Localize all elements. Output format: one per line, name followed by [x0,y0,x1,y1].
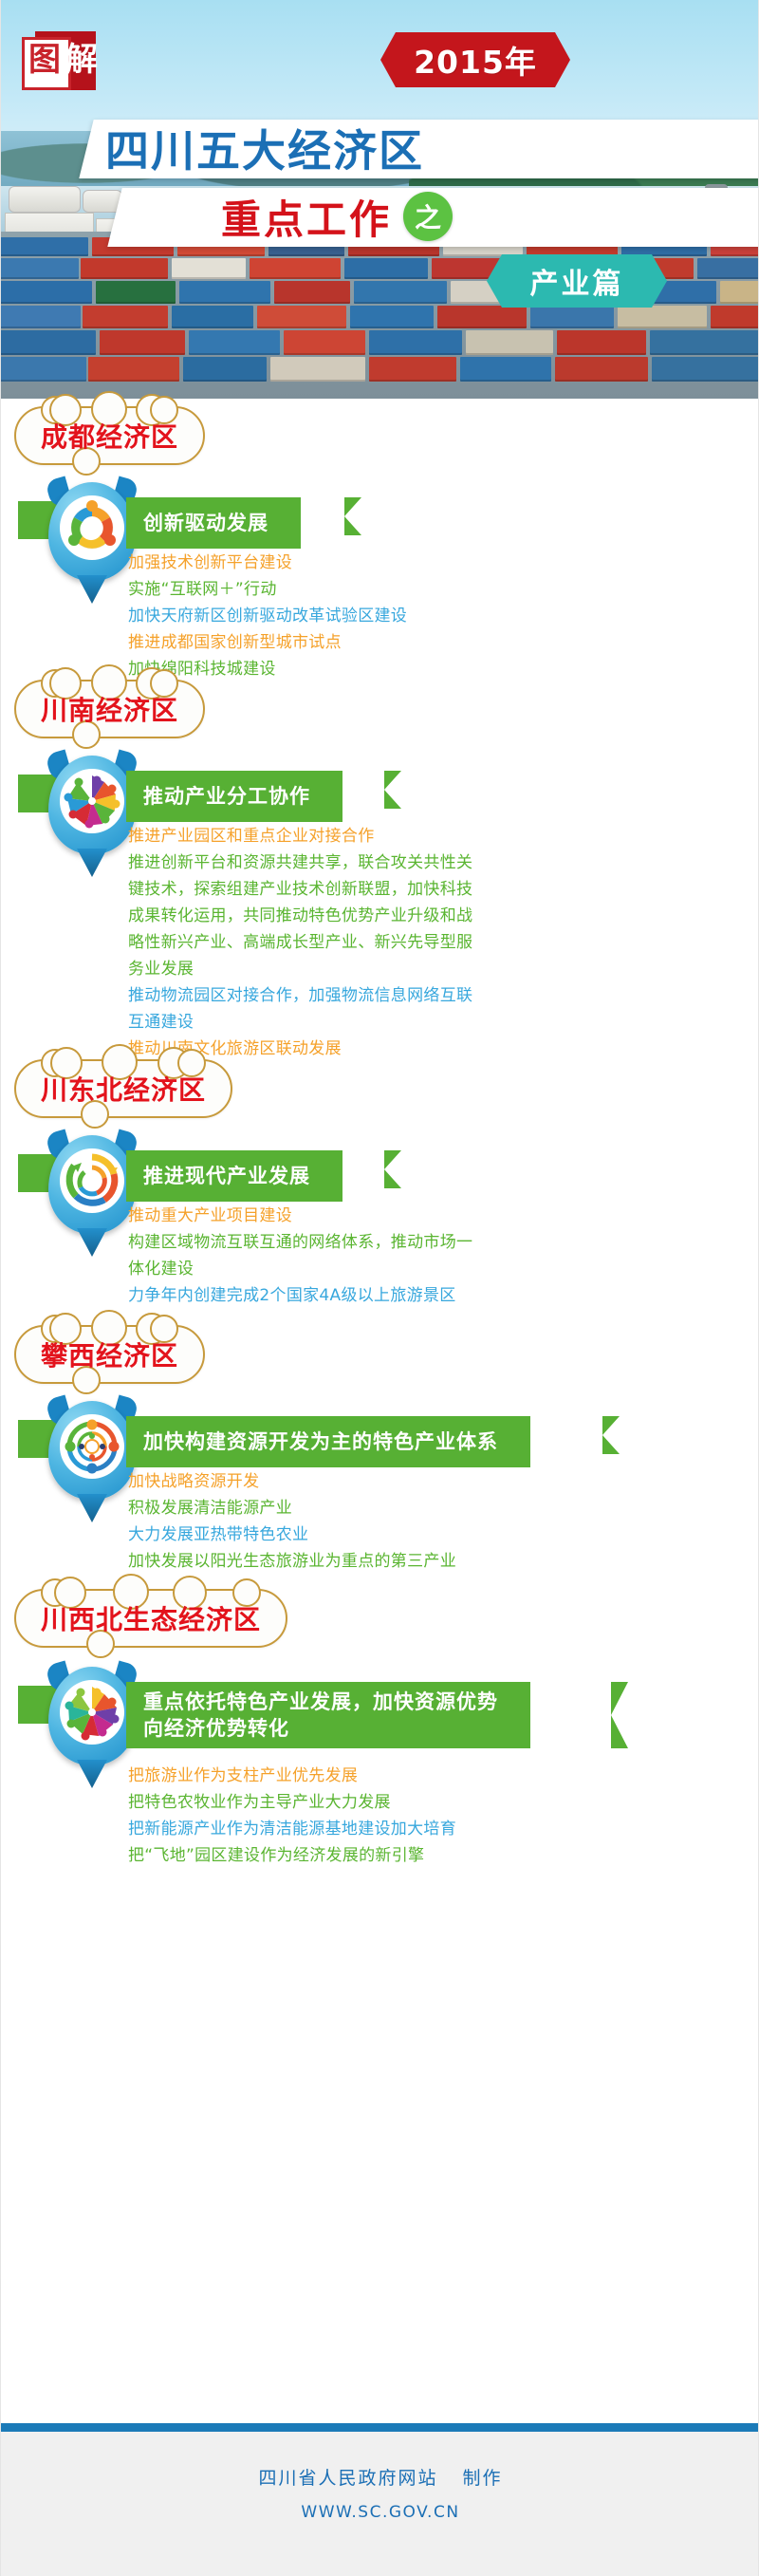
bullet-item: 推进成都国家创新型城市试点 [128,630,735,655]
bullet-item: 推进产业园区和重点企业对接合作 [128,824,735,849]
zone-heading: 重点依托特色产业发展，加快资源优势 向经济优势转化 [143,1689,498,1742]
zone-bullet-list: 把旅游业作为支柱产业优先发展 把特色农牧业作为主导产业大力发展 把新能源产业作为… [128,1764,735,1870]
zone-heading: 推进现代产业发展 [143,1163,310,1189]
bullet-item: 大力发展亚热带特色农业 [128,1522,735,1547]
concentric-dots-icon [60,1414,124,1479]
zone-heading: 推动产业分工协作 [143,783,310,810]
bullet-item: 加强技术创新平台建设 [128,551,735,575]
year-badge: 2015年 [380,32,570,87]
stamp-char-jie: 解 [65,39,96,81]
footer-make-label: 制作 [463,2468,503,2489]
zone-cloud: 川南经济区 [14,680,205,738]
pin-tail [77,1760,107,1788]
bullet-item: 把旅游业作为支柱产业优先发展 [128,1764,735,1788]
zone-content-chuanxibei: 重点依托特色产业发展，加快资源优势 向经济优势转化 把旅游业作为支柱产业优先发展… [1,1657,759,1877]
section-chuandongbei: 川东北经济区 [1,1050,759,1316]
bullet-item: 推动重大产业项目建设 [128,1204,735,1228]
zone-title: 成都经济区 [41,417,178,455]
zone-content-chuandongbei: 推进现代产业发展 推动重大产业项目建设 构建区域物流互联互通的网络体系，推动市场… [1,1126,759,1316]
bullet-item: 把“飞地”园区建设作为经济发展的新引擎 [128,1843,735,1868]
zone-heading-ribbon: 重点依托特色产业发展，加快资源优势 向经济优势转化 [126,1682,530,1748]
zone-heading: 加快构建资源开发为主的特色产业体系 [143,1428,498,1455]
bullet-item: 积极发展清洁能源产业 [128,1496,735,1521]
bullet-item: 把新能源产业作为清洁能源基地建设加大培育 [128,1817,735,1841]
footer: 四川省人民政府网站制作 WWW.SC.GOV.CN [1,2432,759,2576]
tujie-stamp-logo: 图 解 [22,31,96,90]
bullet-item: 成果转化运用，共同推动特色优势产业升级和战 [128,904,735,928]
zone-cloud-wrap: 川东北经济区 [1,1050,759,1126]
bullet-item: 加快发展以阳光生态旅游业为重点的第三产业 [128,1549,735,1574]
ribbon-arrow-tail [611,1682,628,1748]
section-chengdu: 成都经济区 [1,399,759,672]
zone-cloud-wrap: 川西北生态经济区 [1,1577,759,1657]
footer-divider [1,2423,759,2432]
bullet-item: 把特色农牧业作为主导产业大力发展 [128,1790,735,1815]
zone-cloud: 川西北生态经济区 [14,1589,287,1648]
zone-title: 川西北生态经济区 [41,1599,261,1637]
zone-heading-ribbon: 加快构建资源开发为主的特色产业体系 [126,1416,530,1467]
zone-cloud-wrap: 川南经济区 [1,672,759,746]
zone-cloud: 成都经济区 [14,406,205,465]
footer-org-label: 四川省人民政府网站 [258,2468,437,2489]
people-flower-icon [60,1680,124,1745]
zone-title: 川东北经济区 [41,1070,206,1108]
zone-cloud: 川东北经济区 [14,1059,232,1118]
zone-heading: 创新驱动发展 [143,510,268,536]
year-badge-label: 2015年 [414,37,537,83]
zone-bullet-list: 推动重大产业项目建设 构建区域物流互联互通的网络体系，推动市场一 体化建设 力争… [128,1204,735,1310]
people-pinwheel-icon [60,769,124,833]
pin-tail [77,849,107,877]
bullet-item: 键技术，探索组建产业技术创新联盟，加快科技 [128,877,735,902]
zone-bullet-list: 加强技术创新平台建设 实施“互联网＋”行动 加快天府新区创新驱动改革试验区建设 … [128,551,735,683]
section-chuannan: 川南经济区 [1,672,759,1050]
bullet-item: 构建区域物流互联互通的网络体系，推动市场一 [128,1230,735,1255]
infographic-page: 图 解 2015年 四川五大经济区 重点工作 之 产业篇 [0,0,759,2576]
ribbon-arrow-tail [602,1416,620,1454]
bullet-item: 略性新兴产业、高端成长型产业、新兴先导型服 [128,930,735,955]
zone-content-chengdu: 创新驱动发展 加强技术创新平台建设 实施“互联网＋”行动 加快天府新区创新驱动改… [1,473,759,672]
bullet-item: 加快天府新区创新驱动改革试验区建设 [128,604,735,628]
zone-heading-ribbon: 推动产业分工协作 [126,771,342,822]
bullet-item: 互通建设 [128,1010,735,1035]
pin-tail [77,575,107,604]
zone-heading-ribbon: 创新驱动发展 [126,497,301,549]
main-title: 四川五大经济区 [105,118,759,178]
storage-tank [9,186,81,213]
zhi-circle-badge: 之 [403,192,453,241]
pin-tail [77,1228,107,1257]
arrows-spiral-icon [60,1148,124,1213]
ribbon-arrow-tail [384,771,401,809]
bullet-item: 加快战略资源开发 [128,1469,735,1494]
people-ring-icon [60,495,124,560]
bullet-item: 力争年内创建完成2个国家4A级以上旅游景区 [128,1283,735,1308]
pin-tail [77,1494,107,1522]
subtitle-label: 重点工作 [221,188,392,246]
footer-url[interactable]: WWW.SC.GOV.CN [1,2490,759,2522]
bullet-item: 务业发展 [128,957,735,981]
subtitle-row: 重点工作 之 [221,186,759,247]
hero-banner: 图 解 2015年 四川五大经济区 重点工作 之 产业篇 [1,0,759,399]
bullet-item: 推动物流园区对接合作，加强物流信息网络互联 [128,983,735,1008]
section-panxi: 攀西经济区 [1,1316,759,1577]
chapter-badge-label: 产业篇 [530,260,624,302]
section-chuanxibei: 川西北生态经济区 [1,1577,759,1877]
main-title-label: 四川五大经济区 [105,117,424,179]
chapter-badge: 产业篇 [487,254,667,308]
zone-bullet-list: 推进产业园区和重点企业对接合作 推进创新平台和资源共建共享，联合攻关共性关 键技… [128,824,735,1063]
zone-cloud-wrap: 成都经济区 [1,399,759,473]
ribbon-arrow-tail [384,1150,401,1188]
ribbon-arrow-tail [344,497,361,535]
zone-heading-ribbon: 推进现代产业发展 [126,1150,342,1202]
zone-title: 川南经济区 [41,690,178,728]
bullet-item: 推进创新平台和资源共建共享，联合攻关共性关 [128,850,735,875]
bullet-item: 实施“互联网＋”行动 [128,577,735,602]
zone-cloud-wrap: 攀西经济区 [1,1316,759,1391]
zone-cloud: 攀西经济区 [14,1325,205,1384]
stamp-char-tu: 图 [26,41,64,79]
zone-content-chuannan: 推动产业分工协作 推进产业园区和重点企业对接合作 推进创新平台和资源共建共享，联… [1,746,759,1050]
footer-org-row: 四川省人民政府网站制作 [1,2432,759,2490]
zone-content-panxi: 加快构建资源开发为主的特色产业体系 加快战略资源开发 积极发展清洁能源产业 大力… [1,1391,759,1577]
bullet-item: 体化建设 [128,1257,735,1281]
zone-bullet-list: 加快战略资源开发 积极发展清洁能源产业 大力发展亚热带特色农业 加快发展以阳光生… [128,1469,735,1576]
zone-title: 攀西经济区 [41,1335,178,1373]
